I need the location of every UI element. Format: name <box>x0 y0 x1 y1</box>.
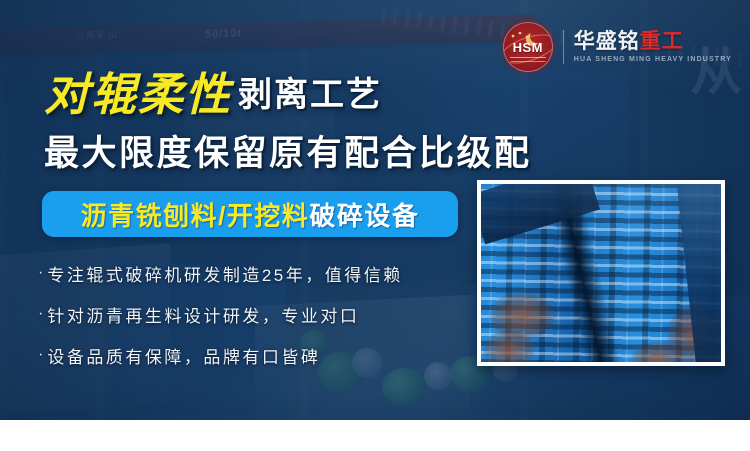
list-item: · 设备品质有保障，品牌有口皆碑 <box>38 340 403 370</box>
bullet-text: 设备品质有保障，品牌有口皆碑 <box>47 343 320 368</box>
bullet-dot-icon: · <box>38 306 43 322</box>
bullet-dot-icon: · <box>38 265 43 281</box>
list-item: · 针对沥青再生料设计研发，专业对口 <box>38 299 403 329</box>
headline-line-1: 对辊柔性剥离工艺 <box>44 72 532 117</box>
company-logo[interactable]: HSM 华盛铭重工 HUA SHENG MING HEAVY INDUSTRY <box>503 22 732 72</box>
headline-line-2: 最大限度保留原有配合比级配 <box>44 125 532 176</box>
product-photo-gloss <box>481 184 721 362</box>
headline-block: 对辊柔性剥离工艺 最大限度保留原有配合比级配 <box>44 72 532 176</box>
logo-text-block: 华盛铭重工 HUA SHENG MING HEAVY INDUSTRY <box>574 31 732 63</box>
bullet-text: 针对沥青再生料设计研发，专业对口 <box>47 302 359 327</box>
subtitle-highlight: 沥青铣刨料/开挖料 <box>81 201 310 231</box>
hsm-monogram: HSM <box>504 40 552 55</box>
feature-bullet-list: · 专注辊式破碎机研发制造25年，值得信赖 · 针对沥青再生料设计研发，专业对口… <box>38 258 403 381</box>
bullet-text: 专注辊式破碎机研发制造25年，值得信赖 <box>47 261 402 286</box>
subtitle-plain: 破碎设备 <box>309 201 419 231</box>
headline-accent-text: 对辊柔性 <box>44 68 232 121</box>
logo-divider <box>563 30 564 64</box>
list-item: · 专注辊式破碎机研发制造25年，值得信赖 <box>38 258 403 288</box>
subtitle-pill-text: 沥青铣刨料/开挖料破碎设备 <box>81 196 420 233</box>
logo-name-en: HUA SHENG MING HEAVY INDUSTRY <box>574 56 732 63</box>
logo-name-accent: 重工 <box>640 30 684 53</box>
logo-name-cn: 华盛铭重工 <box>574 31 732 52</box>
headline-plain-text: 剥离工艺 <box>238 76 382 114</box>
product-photo[interactable] <box>477 180 725 366</box>
subtitle-pill[interactable]: 沥青铣刨料/开挖料破碎设备 <box>42 191 458 237</box>
product-photo-inner <box>481 184 721 362</box>
bullet-dot-icon: · <box>38 347 43 363</box>
hsm-emblem-icon: HSM <box>503 22 553 72</box>
logo-name-primary: 华盛铭 <box>574 30 640 53</box>
wave-lines-icon <box>510 55 546 64</box>
promo-banner: 河南矿山 50/10t 从 HSM 华盛铭重工 HUA SHENG MING H… <box>0 0 750 420</box>
